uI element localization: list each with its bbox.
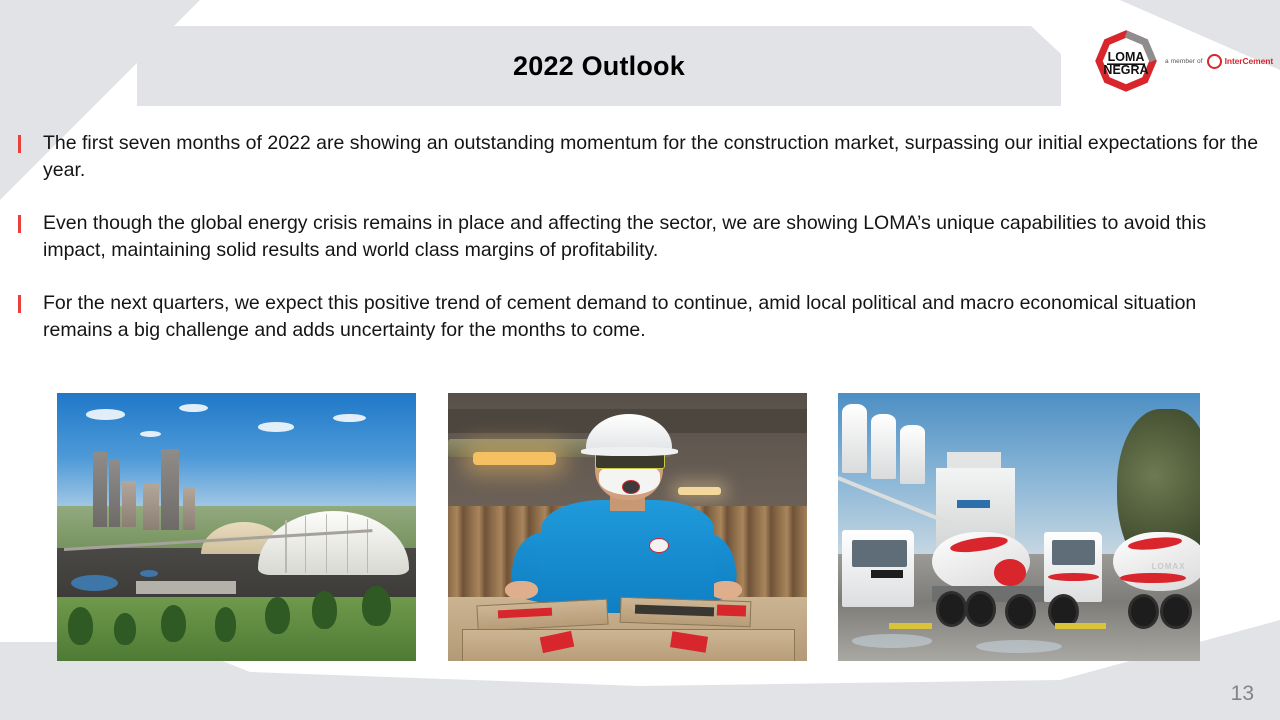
plant-tower — [93, 452, 107, 527]
intercement-ring-icon — [1207, 54, 1222, 69]
tree-shape — [362, 586, 391, 626]
plant-silo — [183, 487, 196, 530]
member-of-intercement: a member of InterCement — [1165, 54, 1273, 69]
ceiling-lamp — [678, 487, 721, 495]
bullet-text-1: The first seven months of 2022 are showi… — [43, 130, 1265, 184]
truck-wheel — [936, 591, 967, 626]
cement-bag — [462, 629, 794, 661]
dome-rib — [347, 515, 348, 573]
member-of-label: a member of — [1165, 58, 1203, 65]
worker-hand — [710, 581, 742, 600]
svg-text:LOMA: LOMA — [1108, 50, 1145, 64]
truck-windshield — [1052, 540, 1095, 564]
truck-wheel — [1160, 594, 1191, 629]
red-bar-bullet-icon — [18, 295, 21, 313]
bullet-item-1: The first seven months of 2022 are showi… — [18, 130, 1268, 184]
truck-brand-label: LOMAX — [1152, 562, 1186, 571]
photo-strip: LOMAX — [57, 393, 1203, 661]
truck-red-stripe — [1048, 573, 1099, 581]
tree-shape — [114, 613, 136, 645]
dome-rib — [326, 514, 327, 573]
photo-worker — [448, 393, 807, 661]
photo-mixer-trucks: LOMAX — [838, 393, 1200, 661]
concrete-strip — [136, 581, 237, 594]
cloud-shape — [86, 409, 125, 420]
intercement-label: InterCement — [1225, 56, 1274, 66]
plant-silo — [143, 484, 159, 530]
batching-silo — [842, 404, 867, 474]
tree-shape — [312, 591, 337, 629]
plant-tower — [161, 449, 179, 529]
bullet-item-2: Even though the global energy crisis rem… — [18, 210, 1268, 264]
tree-shape — [68, 607, 93, 645]
dome-rib — [305, 516, 306, 573]
hard-hat-brim — [581, 447, 678, 456]
dome-rib — [285, 520, 286, 573]
water-puddle — [852, 634, 932, 647]
brand-logo: LOMA NEGRA a member of InterCement — [1095, 30, 1270, 92]
bullet-item-3: For the next quarters, we expect this po… — [18, 290, 1268, 344]
mixer-drum-red-stripe — [994, 559, 1027, 586]
red-bar-bullet-icon — [18, 135, 21, 153]
photo-cement-plant — [57, 393, 416, 661]
dome-rib — [367, 519, 368, 573]
bullet-list: The first seven months of 2022 are showi… — [18, 130, 1268, 370]
truck-windshield — [852, 540, 906, 567]
truck-wheel — [965, 591, 996, 626]
company-badge-icon — [649, 538, 669, 553]
svg-text:NEGRA: NEGRA — [1103, 63, 1148, 77]
plant-sign — [957, 500, 990, 508]
truck-wheel — [1005, 594, 1036, 629]
ceiling-lamp — [473, 452, 556, 465]
batching-silo — [871, 414, 896, 478]
cement-bag-red-band — [717, 604, 746, 616]
yellow-kerb — [1055, 623, 1106, 628]
page-number: 13 — [1231, 682, 1254, 706]
cloud-shape — [258, 422, 294, 431]
slide: 2022 Outlook LOMA NEGRA a member of Inte… — [0, 0, 1280, 720]
page-title: 2022 Outlook — [137, 26, 1061, 106]
truck-wheel — [1128, 594, 1159, 629]
bullet-text-2: Even though the global energy crisis rem… — [43, 210, 1265, 264]
bullet-text-3: For the next quarters, we expect this po… — [43, 290, 1265, 344]
tree-shape — [265, 597, 290, 635]
tree-shape — [215, 607, 237, 642]
mixer-drum-red-stripe — [1120, 573, 1185, 584]
worker-torso-blue-shirt — [541, 500, 713, 613]
truck-brand-plate — [871, 570, 904, 578]
cloud-shape — [179, 404, 208, 412]
loma-negra-logo-icon: LOMA NEGRA — [1095, 30, 1157, 92]
water-puddle — [976, 640, 1063, 653]
tree-shape — [161, 605, 186, 643]
plant-tower — [109, 460, 120, 527]
yellow-kerb — [889, 623, 932, 628]
plant-silo — [122, 481, 136, 527]
red-bar-bullet-icon — [18, 215, 21, 233]
cloud-shape — [140, 431, 162, 437]
worker-hand — [505, 581, 537, 600]
batching-silo — [900, 425, 925, 484]
water-pond — [140, 570, 158, 577]
